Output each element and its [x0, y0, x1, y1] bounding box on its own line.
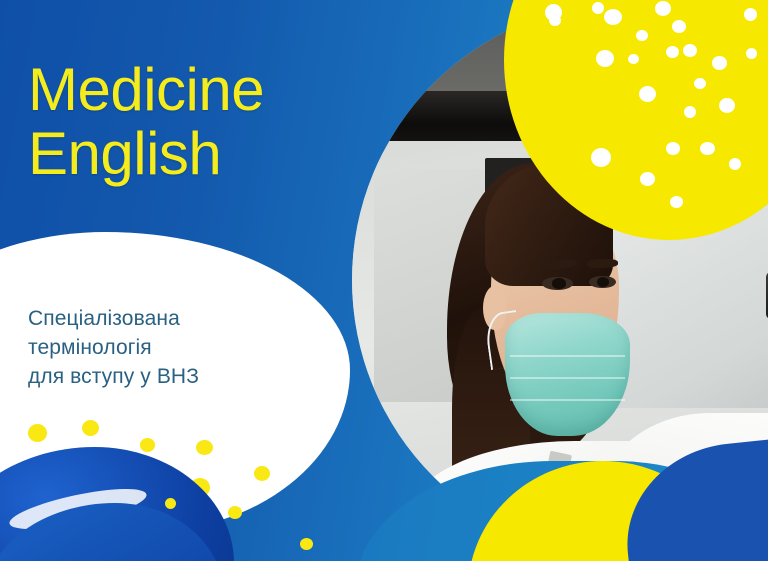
decor-dot-yellow	[254, 466, 270, 481]
decor-dot-yellow	[228, 506, 242, 519]
decor-dot-white	[592, 2, 604, 14]
decor-dot-white	[719, 98, 735, 113]
decor-dot-white	[670, 196, 683, 208]
photo-eye-left	[542, 277, 573, 290]
title-line-1: Medicine	[28, 58, 358, 122]
decor-dot-yellow	[82, 420, 99, 436]
decor-dot-white	[604, 9, 622, 25]
decor-dot-white	[639, 86, 656, 102]
photo-eye-right	[589, 276, 616, 289]
decor-dot-yellow	[165, 498, 176, 509]
decor-dot-white	[684, 106, 696, 118]
decor-dot-white	[549, 15, 561, 26]
subtitle: Спеціалізована термінологія для вступу у…	[28, 305, 318, 392]
decor-dot-white	[628, 54, 639, 64]
decor-dot-yellow	[300, 538, 313, 550]
subtitle-line-3: для вступу у ВНЗ	[28, 363, 318, 392]
subtitle-line-1: Спеціалізована	[28, 305, 318, 334]
decor-dot-yellow	[28, 424, 47, 442]
decor-dot-white	[636, 30, 648, 41]
subtitle-line-2: термінологія	[28, 334, 318, 363]
decor-dot-white	[666, 46, 679, 58]
photo-eyebrow-right	[587, 258, 618, 268]
decor-dot-white	[729, 158, 741, 170]
decor-dot-white	[672, 20, 686, 33]
decor-dot-white	[655, 1, 671, 16]
decor-dot-white	[700, 142, 715, 155]
decor-dot-white	[712, 56, 727, 70]
decor-dot-white	[683, 44, 697, 57]
decor-dot-white	[591, 148, 611, 167]
title-line-2: English	[28, 122, 358, 186]
promo-banner: Medicine English Спеціалізована термінол…	[0, 0, 768, 561]
page-title: Medicine English	[28, 58, 358, 185]
decor-dot-yellow	[196, 440, 213, 455]
decor-dot-white	[666, 142, 680, 155]
decor-dot-white	[746, 48, 757, 59]
decor-dot-white	[694, 78, 706, 89]
decor-dot-yellow	[140, 438, 155, 452]
decor-dot-white	[640, 172, 655, 186]
decor-dot-white	[744, 8, 757, 21]
decor-dot-white	[596, 50, 614, 67]
